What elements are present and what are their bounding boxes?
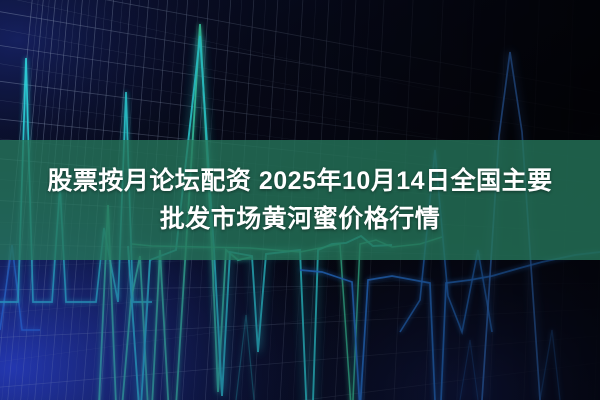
title-line-1: 股票按月论坛配资 2025年10月14日全国主要 [47,162,552,200]
title-line-2: 批发市场黄河蜜价格行情 [160,200,441,238]
title-band: 股票按月论坛配资 2025年10月14日全国主要 批发市场黄河蜜价格行情 [0,140,600,260]
banner-image: 股票按月论坛配资 2025年10月14日全国主要 批发市场黄河蜜价格行情 [0,0,600,400]
